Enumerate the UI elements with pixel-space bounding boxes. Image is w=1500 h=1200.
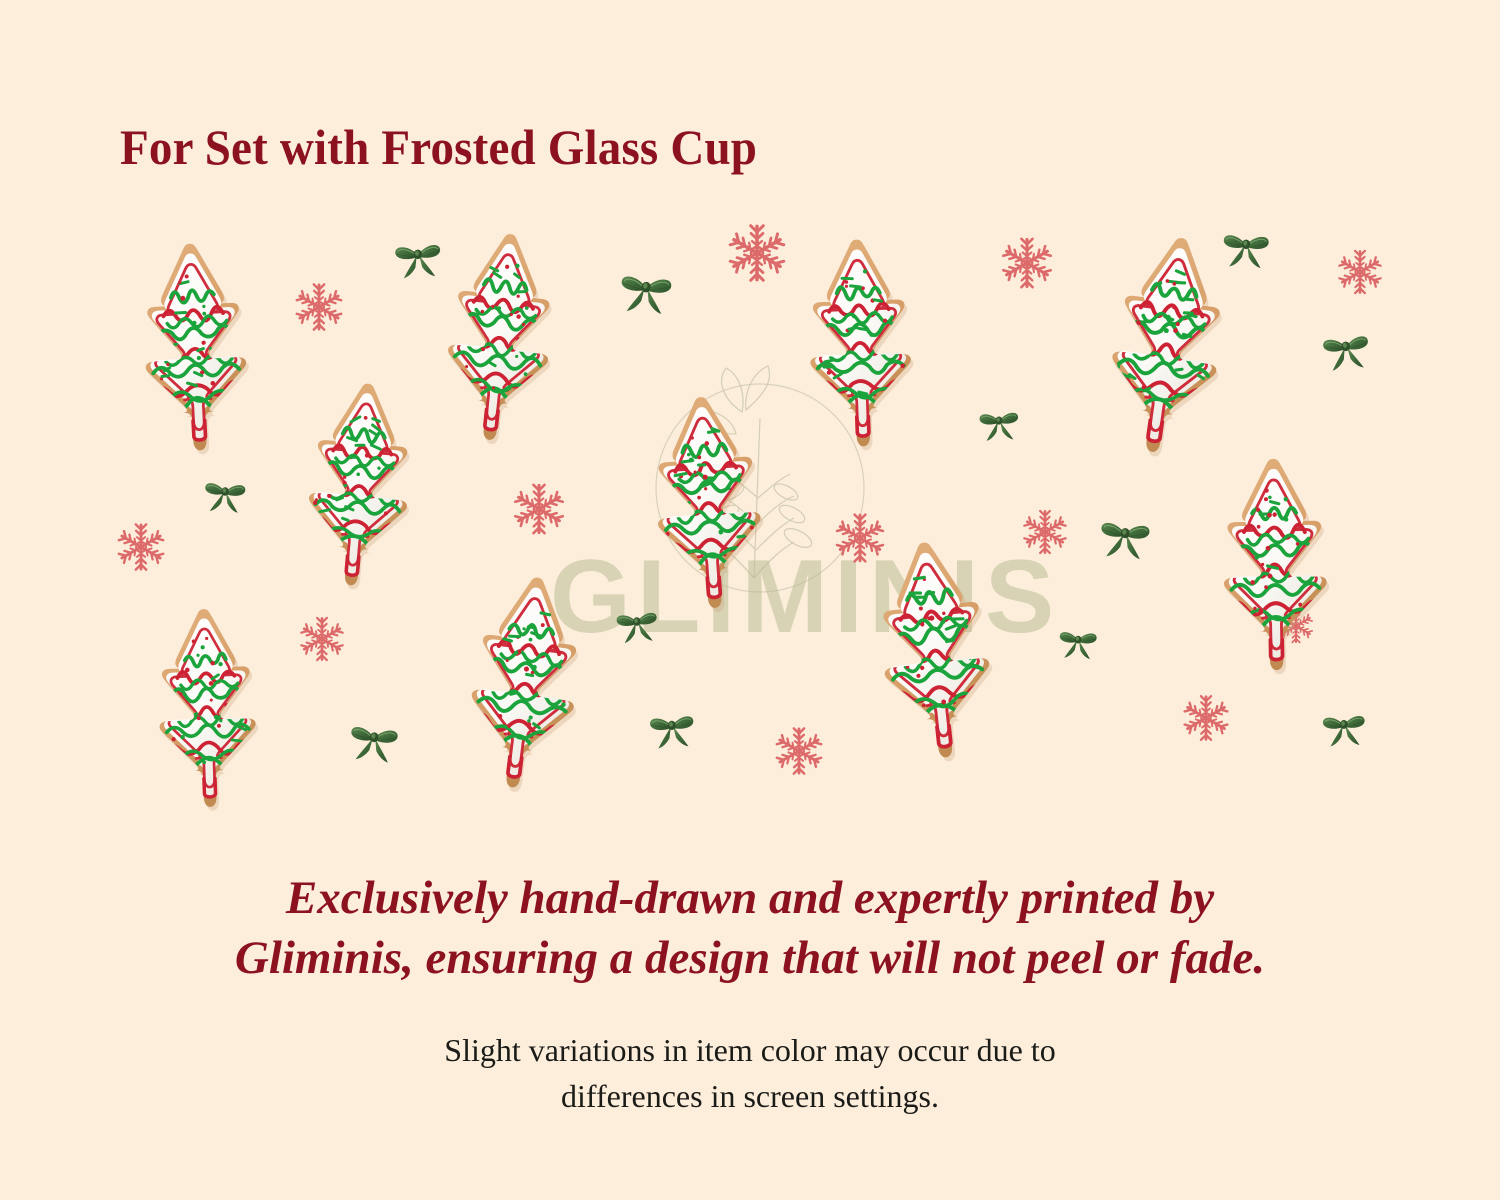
- ribbon-bow-icon: [1317, 699, 1372, 754]
- snowflake-icon: [295, 612, 349, 666]
- tagline: Exclusively hand-drawn and expertly prin…: [120, 868, 1380, 988]
- ribbon-bow-icon: [1315, 317, 1377, 379]
- tagline-line-2: Gliminis, ensuring a design that will no…: [120, 928, 1380, 988]
- christmas-tree-cookie: [823, 520, 1047, 780]
- snowflake-icon: [1018, 505, 1072, 559]
- snowflake-icon: [1178, 690, 1234, 746]
- ribbon-bow-icon: [643, 698, 701, 756]
- ribbon-bow-icon: [1092, 502, 1157, 567]
- tagline-line-1: Exclusively hand-drawn and expertly prin…: [120, 868, 1380, 928]
- christmas-tree-cookie: [108, 595, 306, 821]
- ribbon-bow-icon: [1054, 617, 1102, 665]
- snowflake-icon: [290, 278, 348, 336]
- disclaimer-line-1: Slight variations in item color may occu…: [250, 1027, 1250, 1073]
- ribbon-bow-icon: [342, 707, 406, 771]
- snowflake-icon: [996, 232, 1058, 294]
- ribbon-bow-icon: [974, 397, 1024, 447]
- ribbon-bow-icon: [198, 466, 251, 519]
- christmas-tree-cookie: [1046, 212, 1287, 479]
- snowflake-icon: [770, 722, 828, 780]
- cookie-pattern-canvas: GLIMINIS: [0, 198, 1500, 798]
- disclaimer: Slight variations in item color may occu…: [250, 1027, 1250, 1120]
- snowflake-icon: [112, 518, 170, 576]
- christmas-tree-cookie: [411, 554, 638, 812]
- ribbon-bow-icon: [612, 255, 679, 322]
- snowflake-icon: [1333, 245, 1387, 299]
- snowflake-icon: [508, 478, 570, 540]
- product-graphic-page: For Set with Frosted Glass Cup: [0, 0, 1500, 1200]
- page-title: For Set with Frosted Glass Cup: [120, 118, 757, 176]
- christmas-tree-cookie: [1173, 445, 1377, 683]
- disclaimer-line-2: differences in screen settings.: [250, 1073, 1250, 1119]
- christmas-tree-cookie: [253, 364, 467, 605]
